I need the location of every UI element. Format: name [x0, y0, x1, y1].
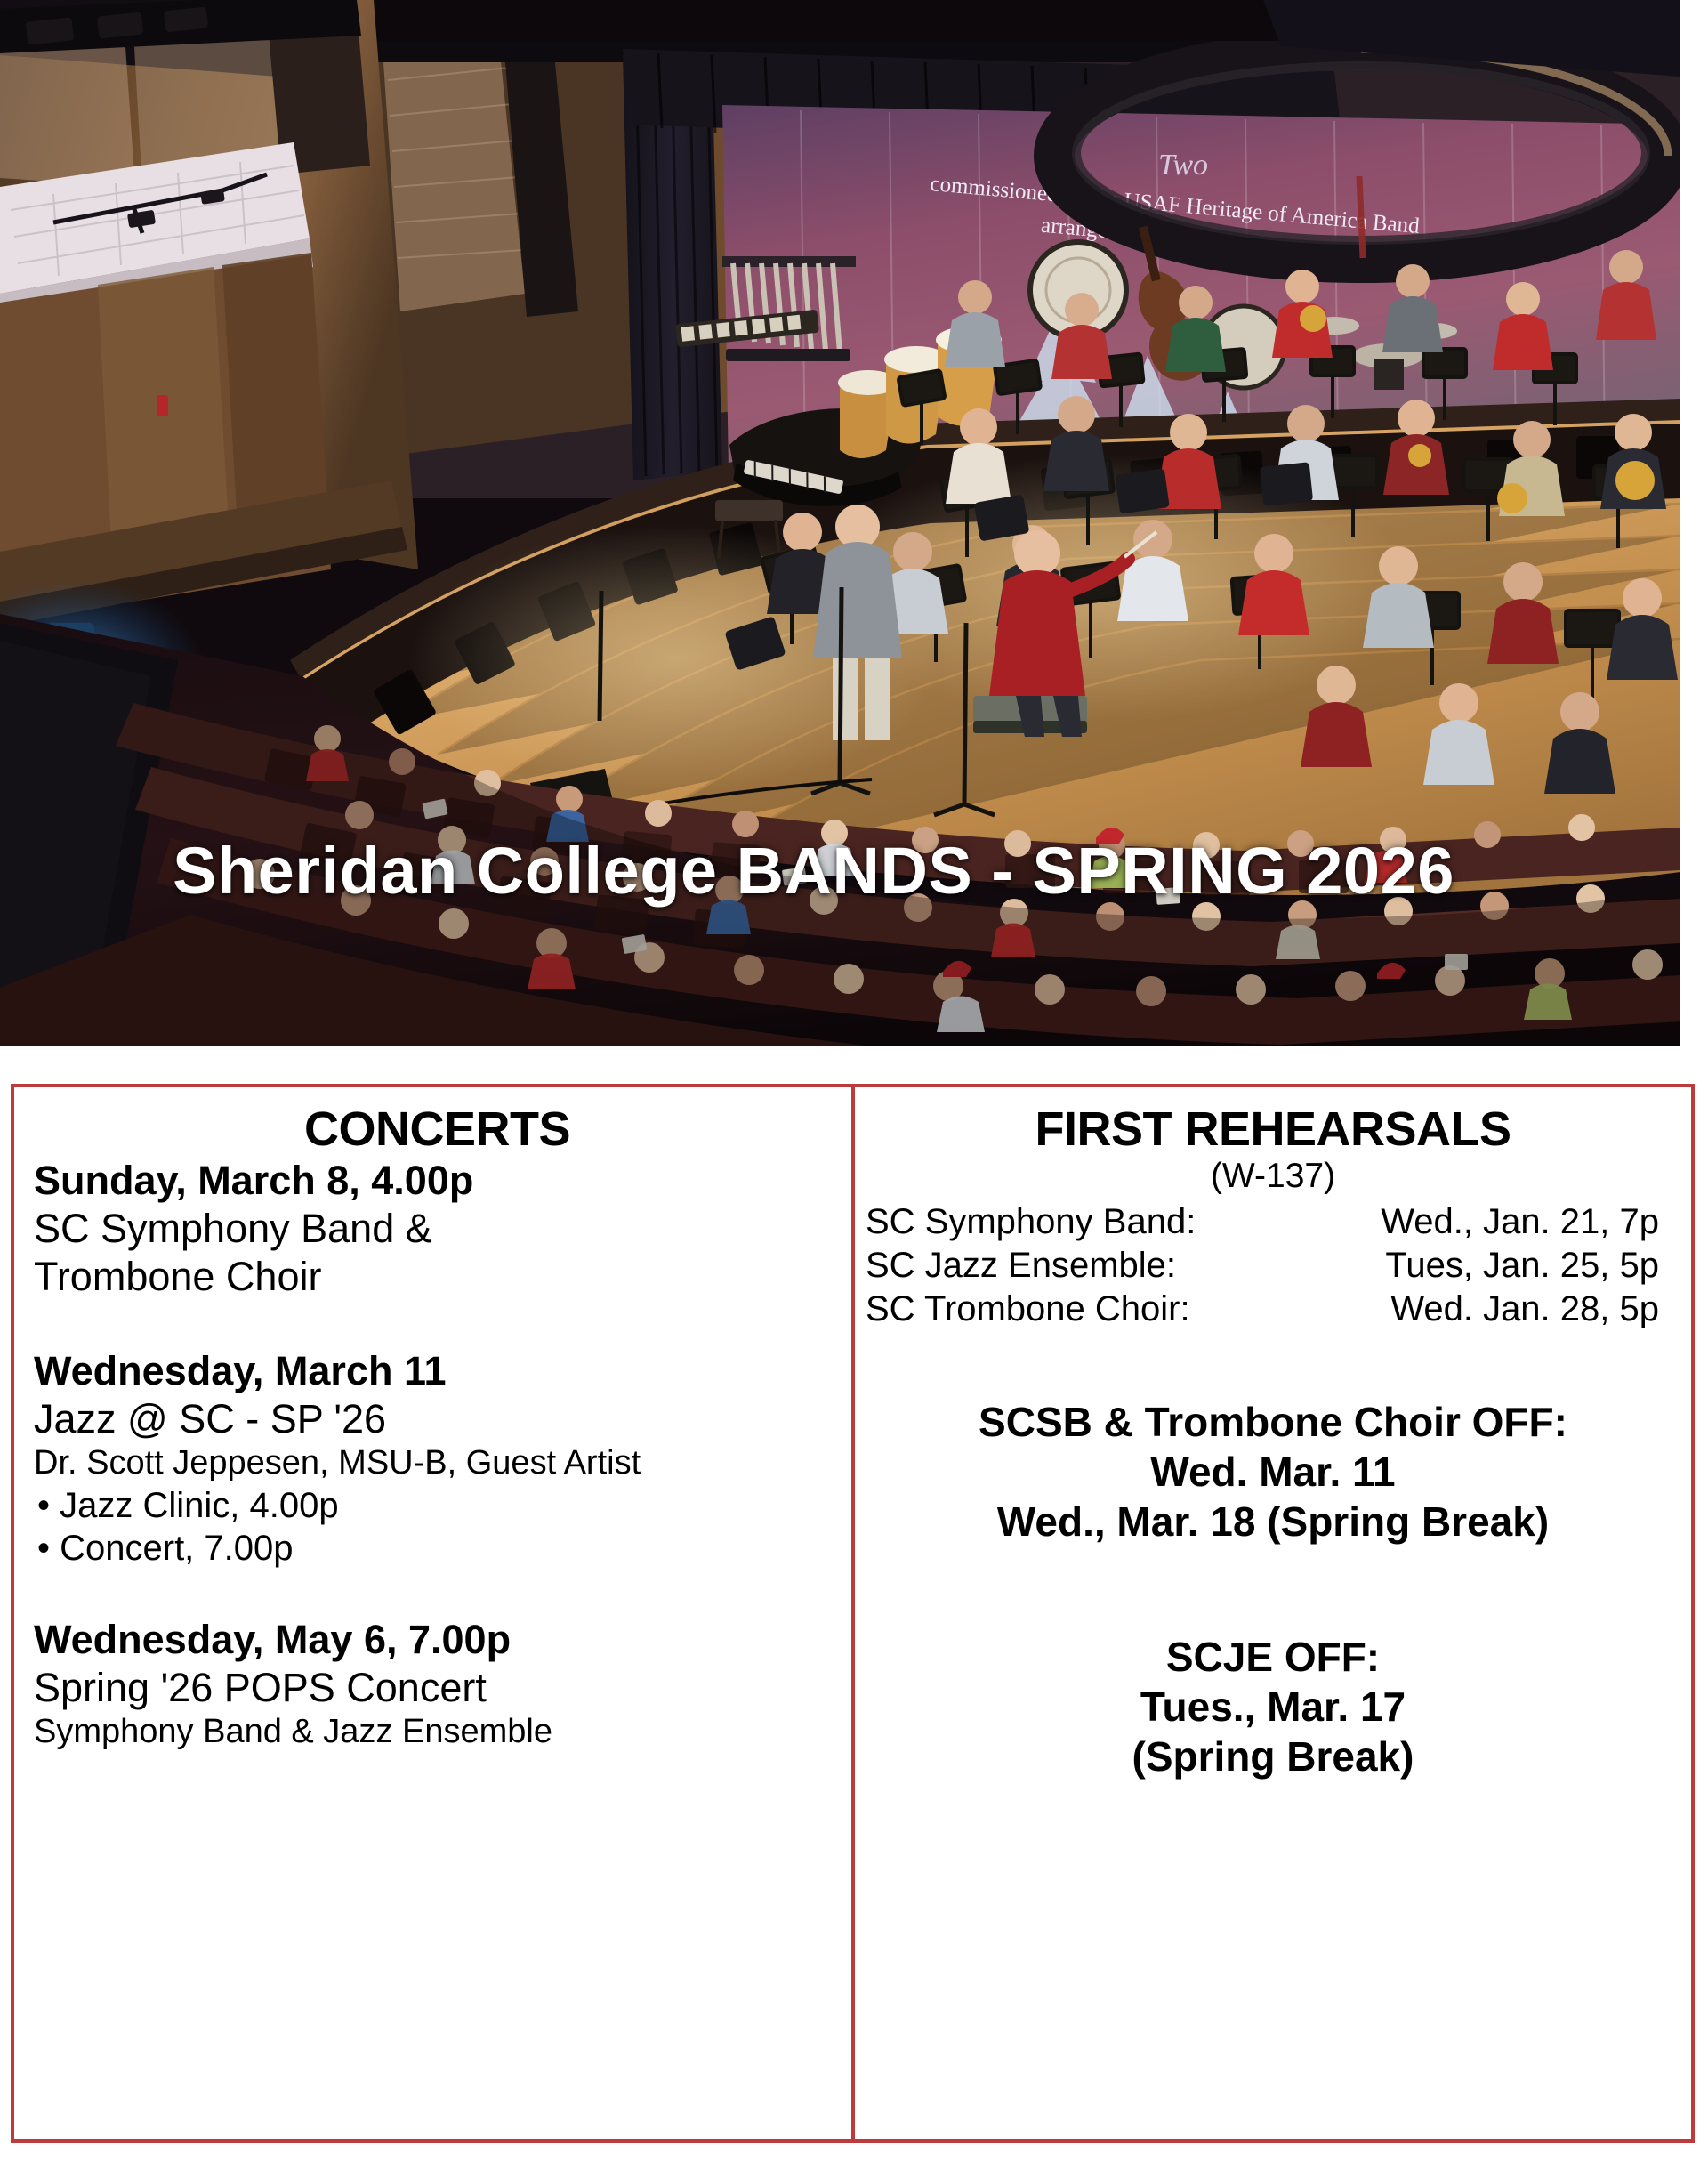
concerts-column: CONCERTS Sunday, March 8, 4.00p SC Symph… — [14, 1087, 855, 2139]
rehearsal-datetime: Wed. Jan. 28, 5p — [1239, 1288, 1680, 1331]
off-block-scje: SCJE OFF: Tues., Mar. 17 (Spring Break) — [866, 1632, 1680, 1781]
poster-root: Two commissioned by the USAF Heritage of… — [0, 0, 1708, 2172]
rehearsal-row: SC Symphony Band: Wed., Jan. 21, 7p — [866, 1200, 1680, 1244]
rehearsal-ensemble: SC Jazz Ensemble: — [866, 1244, 1239, 1288]
rehearsal-list: SC Symphony Band: Wed., Jan. 21, 7p SC J… — [866, 1200, 1680, 1330]
concert-event-2: Wednesday, March 11 Jazz @ SC - SP '26 D… — [34, 1347, 841, 1570]
svg-text:Two: Two — [1158, 149, 1208, 182]
spacer-2 — [34, 1570, 841, 1614]
off-block-1-line2: Wed., Mar. 18 (Spring Break) — [866, 1497, 1680, 1546]
rehearsal-room: (W-137) — [866, 1157, 1680, 1197]
concert-event-3: Wednesday, May 6, 7.00p Spring '26 POPS … — [34, 1616, 841, 1753]
off-block-2-title: SCJE OFF: — [866, 1632, 1680, 1682]
rehearsal-row: SC Trombone Choir: Wed. Jan. 28, 5p — [866, 1288, 1680, 1331]
concert-event-1: Sunday, March 8, 4.00p SC Symphony Band … — [34, 1157, 841, 1301]
spacer-4 — [866, 1546, 1680, 1632]
off-block-1-title: SCSB & Trombone Choir OFF: — [866, 1397, 1680, 1447]
rehearsals-heading: FIRST REHEARSALS — [866, 1103, 1680, 1155]
banner-title: Sheridan College BANDS - SPRING 2026 — [0, 838, 1680, 904]
off-block-1-line1: Wed. Mar. 11 — [866, 1447, 1680, 1497]
rehearsals-column: FIRST REHEARSALS (W-137) SC Symphony Ban… — [855, 1087, 1691, 2139]
event-1-date: Sunday, March 8, 4.00p — [34, 1157, 841, 1205]
event-2-bullet-1: • Jazz Clinic, 4.00p — [34, 1484, 841, 1527]
event-3-line3: Symphony Band & Jazz Ensemble — [34, 1712, 841, 1753]
spacer-1 — [34, 1301, 841, 1345]
schedule-table: CONCERTS Sunday, March 8, 4.00p SC Symph… — [11, 1084, 1695, 2143]
off-block-scsb: SCSB & Trombone Choir OFF: Wed. Mar. 11 … — [866, 1397, 1680, 1546]
concert-hall-photo: Two commissioned by the USAF Heritage of… — [0, 0, 1680, 1046]
rehearsal-ensemble: SC Trombone Choir: — [866, 1288, 1239, 1331]
event-2-date: Wednesday, March 11 — [34, 1347, 841, 1395]
event-2-line3: Dr. Scott Jeppesen, MSU-B, Guest Artist — [34, 1443, 841, 1484]
event-2-bullet-2: • Concert, 7.00p — [34, 1527, 841, 1570]
rehearsal-datetime: Tues, Jan. 25, 5p — [1239, 1244, 1680, 1288]
event-3-line2: Spring '26 POPS Concert — [34, 1664, 841, 1712]
event-1-line2: SC Symphony Band & — [34, 1205, 841, 1253]
rehearsal-ensemble: SC Symphony Band: — [866, 1200, 1239, 1244]
off-block-2-line1: Tues., Mar. 17 — [866, 1682, 1680, 1732]
rehearsal-datetime: Wed., Jan. 21, 7p — [1239, 1200, 1680, 1244]
event-2-line2: Jazz @ SC - SP '26 — [34, 1395, 841, 1443]
concerts-heading: CONCERTS — [34, 1103, 841, 1155]
off-block-2-line2: (Spring Break) — [866, 1732, 1680, 1781]
event-3-date: Wednesday, May 6, 7.00p — [34, 1616, 841, 1664]
spacer-3 — [866, 1331, 1680, 1397]
rehearsal-row: SC Jazz Ensemble: Tues, Jan. 25, 5p — [866, 1244, 1680, 1288]
event-1-line3: Trombone Choir — [34, 1253, 841, 1301]
